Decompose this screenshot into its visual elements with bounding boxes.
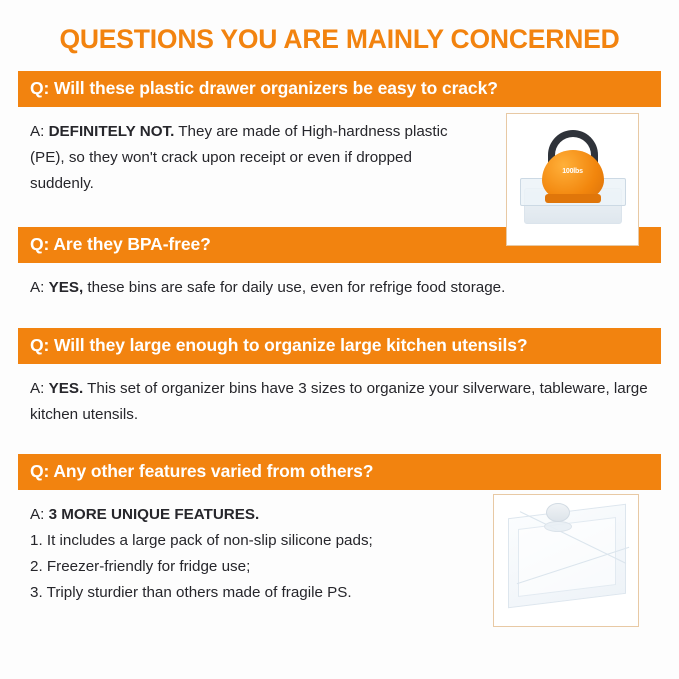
organizer-lid-image — [493, 494, 639, 627]
faq-answer-text-3: This set of organizer bins have 3 sizes … — [30, 380, 648, 423]
faq-feature-item-1: 1. It includes a large pack of non-slip … — [30, 528, 480, 554]
faq-answer-text-2: these bins are safe for daily use, even … — [83, 279, 505, 296]
faq-answer-emphasis-2: YES, — [49, 279, 84, 296]
faq-answer-prefix-1: A: — [30, 123, 49, 140]
faq-answer-1: A: DEFINITELY NOT. They are made of High… — [30, 119, 480, 197]
kettlebell-illustration: 100lbs — [507, 114, 638, 245]
faq-feature-item-2: 2. Freezer-friendly for fridge use; — [30, 554, 480, 580]
lid-knob-shadow — [544, 521, 572, 532]
faq-answer-emphasis-1: DEFINITELY NOT. — [49, 123, 175, 140]
faq-answer-block-3: A: YES. This set of organizer bins have … — [18, 364, 661, 428]
faq-answer-block-2: A: YES, these bins are safe for daily us… — [18, 263, 661, 301]
faq-answer-4: A: 3 MORE UNIQUE FEATURES. — [30, 502, 480, 528]
page-title: QUESTIONS YOU ARE MAINLY CONCERNED — [18, 24, 661, 55]
faq-feature-item-3: 3. Triply sturdier than others made of f… — [30, 580, 480, 606]
spacer-3 — [18, 428, 661, 454]
kettlebell-base-shape — [545, 194, 601, 203]
faq-answer-2: A: YES, these bins are safe for daily us… — [30, 275, 649, 301]
faq-answer-emphasis-3: YES. — [49, 380, 84, 397]
kettlebell-weight-label: 100lbs — [562, 168, 583, 175]
faq-question-bar-3: Q: Will they large enough to organize la… — [18, 328, 661, 364]
faq-answer-prefix-4: A: — [30, 506, 49, 523]
spacer-2 — [18, 302, 661, 328]
faq-answer-block-1: A: DEFINITELY NOT. They are made of High… — [18, 107, 661, 197]
faq-answer-prefix-3: A: — [30, 380, 49, 397]
lid-knob-shape — [546, 503, 570, 522]
faq-answer-block-4: A: 3 MORE UNIQUE FEATURES. 1. It include… — [18, 490, 661, 607]
faq-answer-3: A: YES. This set of organizer bins have … — [30, 376, 649, 428]
organizer-lid-illustration — [494, 495, 638, 626]
faq-answer-prefix-2: A: — [30, 279, 49, 296]
faq-question-bar-1: Q: Will these plastic drawer organizers … — [18, 71, 661, 107]
faq-question-bar-4: Q: Any other features varied from others… — [18, 454, 661, 490]
kettlebell-image: 100lbs — [506, 113, 639, 246]
faq-answer-emphasis-4: 3 MORE UNIQUE FEATURES. — [49, 506, 260, 523]
faq-page: QUESTIONS YOU ARE MAINLY CONCERNED Q: Wi… — [0, 0, 679, 679]
